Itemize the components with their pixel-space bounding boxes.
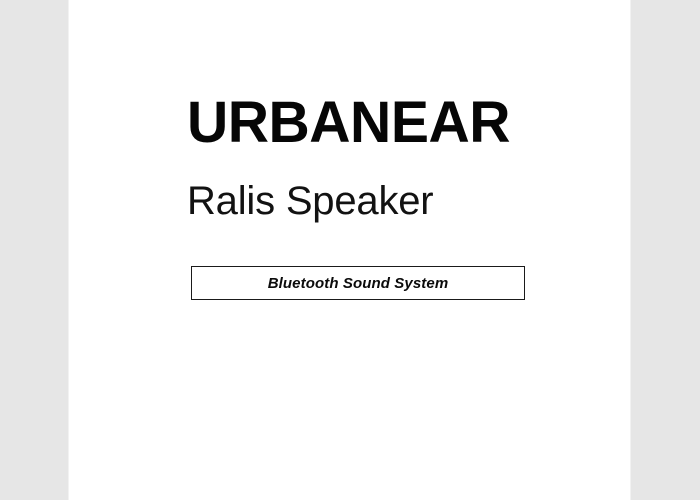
feature-callout-box: Bluetooth Sound System	[191, 266, 525, 300]
document-page: URBANEAR Ralis Speaker Bluetooth Sound S…	[69, 0, 630, 500]
product-name: Ralis Speaker	[187, 179, 433, 223]
page-margin-right	[630, 0, 700, 500]
brand-title: URBANEAR	[187, 92, 522, 154]
document-viewer: URBANEAR Ralis Speaker Bluetooth Sound S…	[0, 0, 700, 500]
page-margin-left	[0, 0, 69, 500]
feature-callout-text: Bluetooth Sound System	[268, 275, 449, 292]
